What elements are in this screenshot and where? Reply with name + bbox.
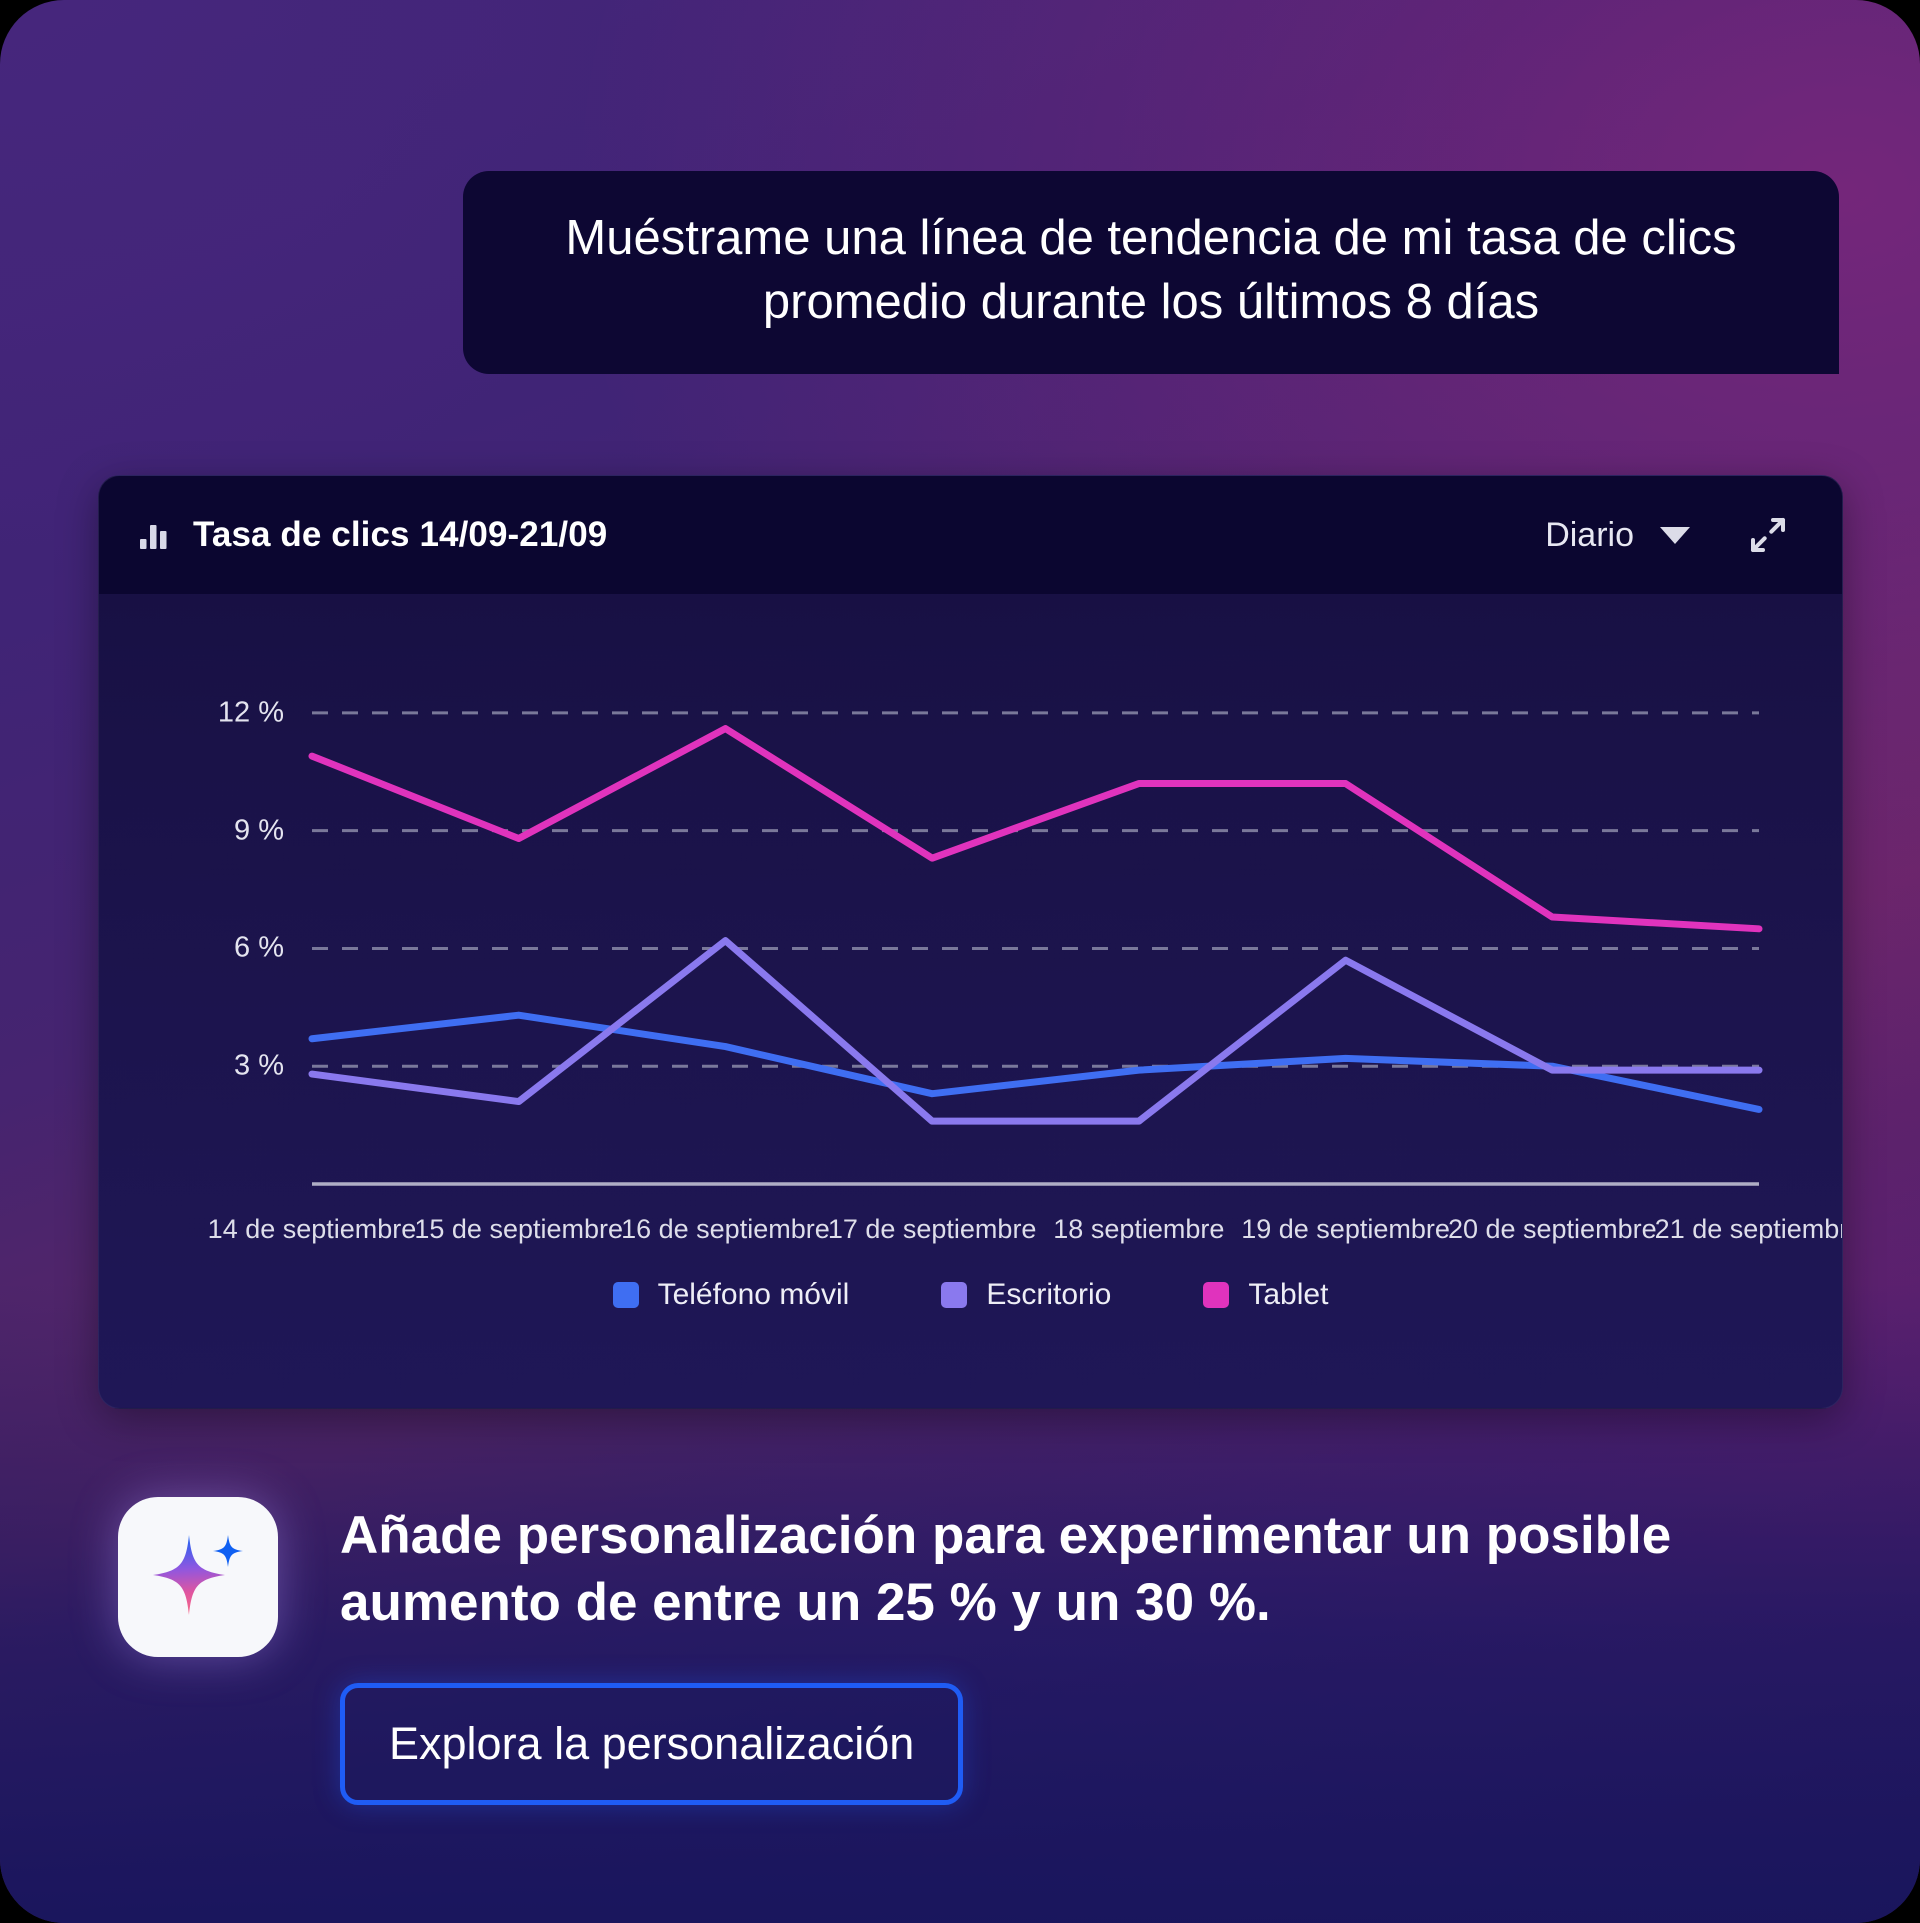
y-axis-tick-label: 12 %	[99, 696, 284, 729]
legend-swatch	[941, 1282, 967, 1308]
x-axis-tick-label: 18 septiembre	[1053, 1214, 1224, 1245]
x-axis-tick-label: 15 de septiembre	[414, 1214, 623, 1245]
chart-card-header-right: Diario	[1545, 515, 1788, 555]
personalization-cta: Añade personalización para experimentar …	[118, 1497, 1838, 1805]
chart-card: Tasa de clics 14/09-21/09 Diario 3 %6 %9…	[98, 475, 1843, 1409]
x-axis-tick-label: 17 de septiembre	[828, 1214, 1037, 1245]
prompt-text: Muéstrame una línea de tendencia de mi t…	[519, 207, 1783, 334]
legend-label: Escritorio	[986, 1278, 1111, 1312]
bar-chart-icon	[139, 520, 169, 550]
chart-legend: Teléfono móvilEscritorioTablet	[99, 1278, 1842, 1312]
explore-personalization-button[interactable]: Explora la personalización	[340, 1683, 963, 1805]
chart-card-header-left: Tasa de clics 14/09-21/09	[139, 515, 607, 555]
legend-item[interactable]: Escritorio	[941, 1278, 1111, 1312]
frequency-dropdown[interactable]: Diario	[1545, 516, 1690, 555]
legend-item[interactable]: Tablet	[1203, 1278, 1328, 1312]
sparkle-icon	[118, 1497, 278, 1657]
chart-plot-area: 3 %6 %9 %12 % 14 de septiembre15 de sept…	[99, 594, 1842, 1408]
frequency-label: Diario	[1545, 516, 1634, 555]
x-axis-tick-label: 21 de septiembre	[1655, 1214, 1843, 1245]
chart-card-title: Tasa de clics 14/09-21/09	[193, 515, 607, 555]
x-axis-tick-label: 14 de septiembre	[208, 1214, 417, 1245]
x-axis-tick-label: 16 de septiembre	[621, 1214, 830, 1245]
cta-headline: Añade personalización para experimentar …	[340, 1503, 1838, 1637]
legend-swatch	[613, 1282, 639, 1308]
cta-content: Añade personalización para experimentar …	[340, 1497, 1838, 1805]
x-axis-tick-label: 20 de septiembre	[1448, 1214, 1657, 1245]
legend-swatch	[1203, 1282, 1229, 1308]
x-axis-labels: 14 de septiembre15 de septiembre16 de se…	[99, 1214, 1842, 1254]
x-axis-tick-label: 19 de septiembre	[1241, 1214, 1450, 1245]
promo-panel: Muéstrame una línea de tendencia de mi t…	[0, 0, 1920, 1923]
expand-icon[interactable]	[1748, 515, 1788, 555]
chevron-down-icon	[1660, 527, 1690, 544]
user-prompt-bubble: Muéstrame una línea de tendencia de mi t…	[463, 171, 1839, 374]
legend-label: Teléfono móvil	[658, 1278, 850, 1312]
y-axis-tick-label: 9 %	[99, 814, 284, 847]
legend-item[interactable]: Teléfono móvil	[613, 1278, 850, 1312]
legend-label: Tablet	[1248, 1278, 1328, 1312]
y-axis-tick-label: 6 %	[99, 932, 284, 965]
y-axis-tick-label: 3 %	[99, 1050, 284, 1083]
chart-card-header: Tasa de clics 14/09-21/09 Diario	[99, 476, 1842, 594]
